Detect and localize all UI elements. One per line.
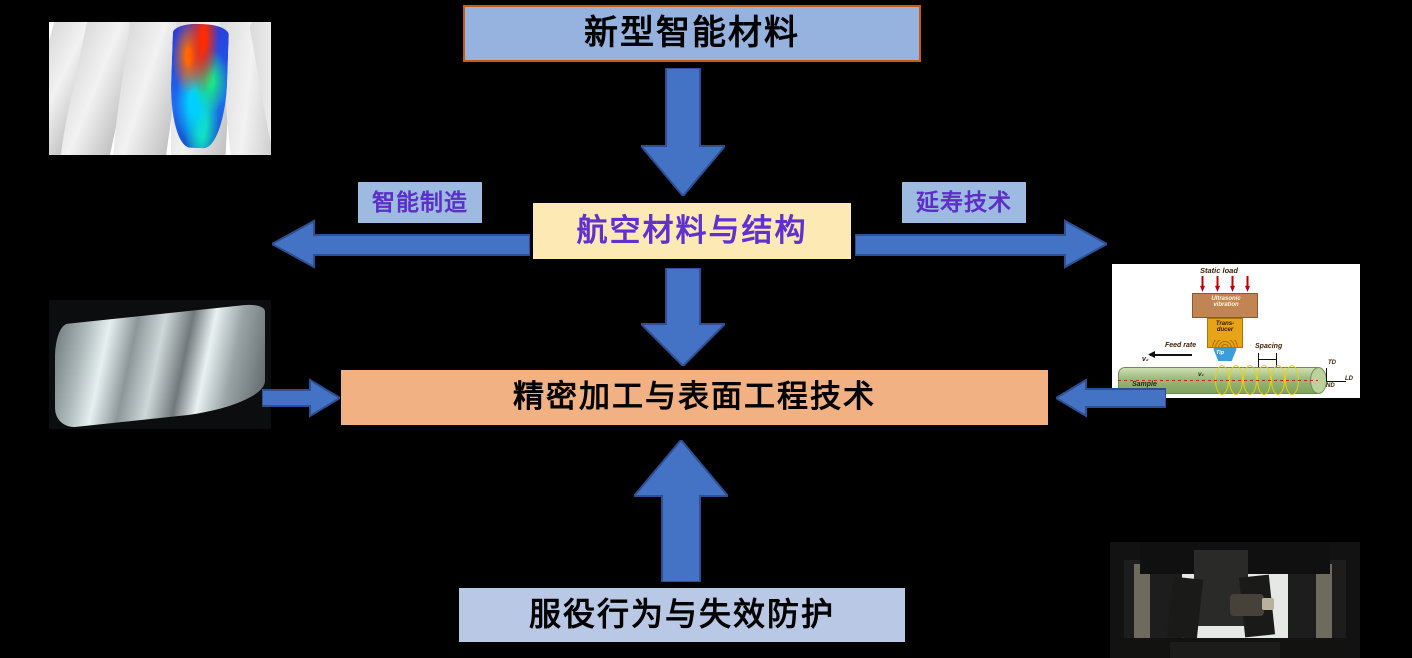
- ultrasonic-label-spacing: Spacing: [1255, 343, 1282, 350]
- bottom-box: 服役行为与失效防护: [459, 588, 905, 642]
- ultrasonic-label-v1: v₁: [1198, 371, 1204, 378]
- diagram-canvas: Static load Ultrasonic vibration Trans-d…: [0, 0, 1412, 658]
- right-label-box: 延寿技术: [902, 182, 1026, 223]
- ultrasonic-label-v2: v₂: [1142, 356, 1149, 363]
- image-testing-machine: [1110, 542, 1360, 658]
- image-turbine-blades: [49, 22, 271, 155]
- arrow-title-to-center: [641, 68, 725, 196]
- orange-box-label: 精密加工与表面工程技术: [513, 380, 876, 414]
- arrow-center-to-orange: [641, 268, 725, 366]
- bottom-box-label: 服役行为与失效防护: [529, 597, 835, 632]
- center-box: 航空材料与结构: [533, 203, 851, 259]
- title-box-label: 新型智能材料: [584, 15, 800, 52]
- ultrasonic-label-transducer: Trans-ducer: [1208, 321, 1242, 333]
- arrow-cad-to-orange: [262, 378, 340, 418]
- ultrasonic-label-td: TD: [1328, 360, 1336, 366]
- arrow-fea-to-orange: [1056, 378, 1166, 418]
- ultrasonic-label-tip: Tip: [1216, 350, 1224, 356]
- ultrasonic-label-vibration: Ultrasonic vibration: [1198, 296, 1254, 308]
- image-metal-sheet: [49, 300, 271, 429]
- arrow-center-to-right: [855, 219, 1107, 269]
- ultrasonic-label-static-load: Static load: [1200, 266, 1238, 275]
- title-box: 新型智能材料: [463, 5, 921, 62]
- ultrasonic-label-feed-rate: Feed rate: [1165, 342, 1196, 349]
- center-box-label: 航空材料与结构: [577, 214, 808, 248]
- arrow-center-to-left: [272, 219, 530, 269]
- arrow-bottom-to-orange: [634, 440, 728, 582]
- left-label-text: 智能制造: [372, 190, 468, 215]
- ultrasonic-label-ld: LD: [1345, 376, 1353, 382]
- left-label-box: 智能制造: [358, 182, 482, 223]
- right-label-text: 延寿技术: [916, 190, 1012, 215]
- ultrasonic-label-nd: ND: [1326, 383, 1335, 389]
- orange-box: 精密加工与表面工程技术: [341, 370, 1048, 425]
